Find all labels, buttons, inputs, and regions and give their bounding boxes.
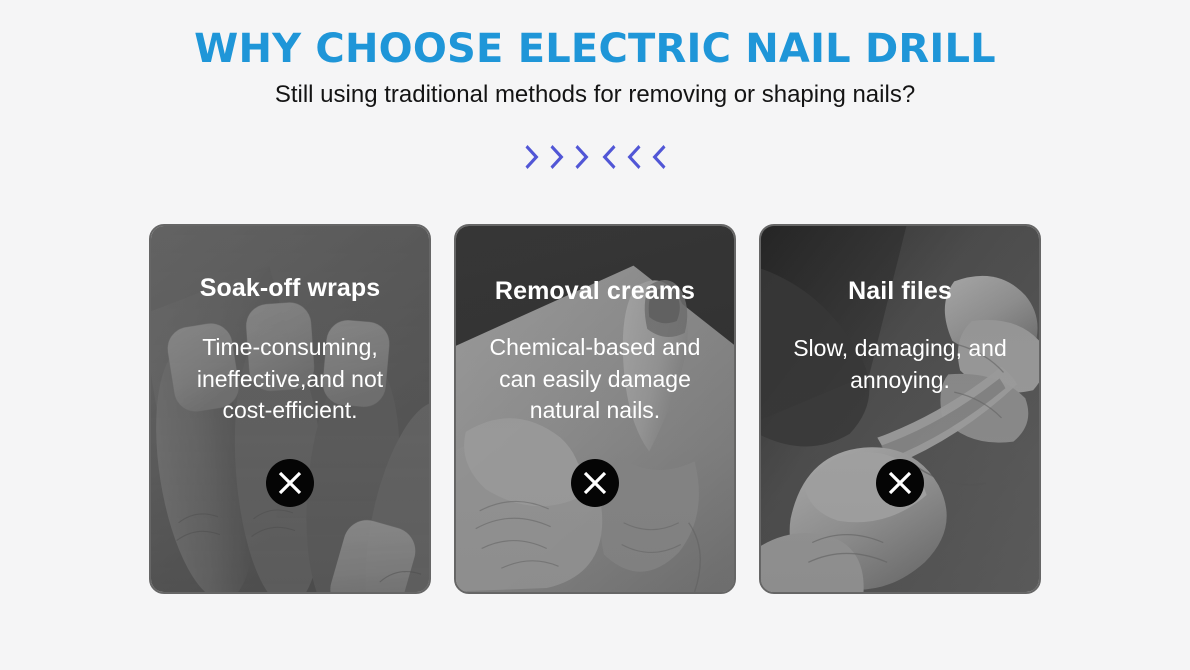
x-mark-badge xyxy=(876,459,924,507)
x-mark-icon xyxy=(275,468,305,498)
chevron-right-icon xyxy=(550,144,566,170)
chevron-left-icon xyxy=(625,144,641,170)
card-title: Removal creams xyxy=(495,276,695,306)
x-mark-icon xyxy=(580,468,610,498)
chevron-left-icon xyxy=(650,144,666,170)
card-description: Slow, damaging, and annoying. xyxy=(793,333,1008,396)
card-description: Time-consuming, ineffective,and not cost… xyxy=(170,332,410,427)
chevron-right-icon xyxy=(575,144,591,170)
x-mark-badge xyxy=(266,459,314,507)
page-subtitle: Still using traditional methods for remo… xyxy=(0,79,1190,111)
x-mark-icon xyxy=(885,468,915,498)
comparison-card-list: Soak-off wraps Time-consuming, ineffecti… xyxy=(0,224,1190,596)
page-header: WHY CHOOSE ELECTRIC NAIL DRILL Still usi… xyxy=(0,0,1190,111)
card-title: Nail files xyxy=(848,276,952,306)
x-mark-badge xyxy=(571,459,619,507)
card-description: Chemical-based and can easily damage nat… xyxy=(469,332,721,427)
chevron-right-icon xyxy=(525,144,541,170)
comparison-card-removal-creams[interactable]: Removal creams Chemical-based and can ea… xyxy=(454,224,736,594)
card-title: Soak-off wraps xyxy=(200,273,381,303)
chevron-divider xyxy=(0,137,1190,177)
chevron-left-icon xyxy=(600,144,616,170)
page-title: WHY CHOOSE ELECTRIC NAIL DRILL xyxy=(0,24,1190,74)
comparison-card-nail-files[interactable]: Nail files Slow, damaging, and annoying. xyxy=(759,224,1041,594)
comparison-card-soak-off-wraps[interactable]: Soak-off wraps Time-consuming, ineffecti… xyxy=(149,224,431,594)
